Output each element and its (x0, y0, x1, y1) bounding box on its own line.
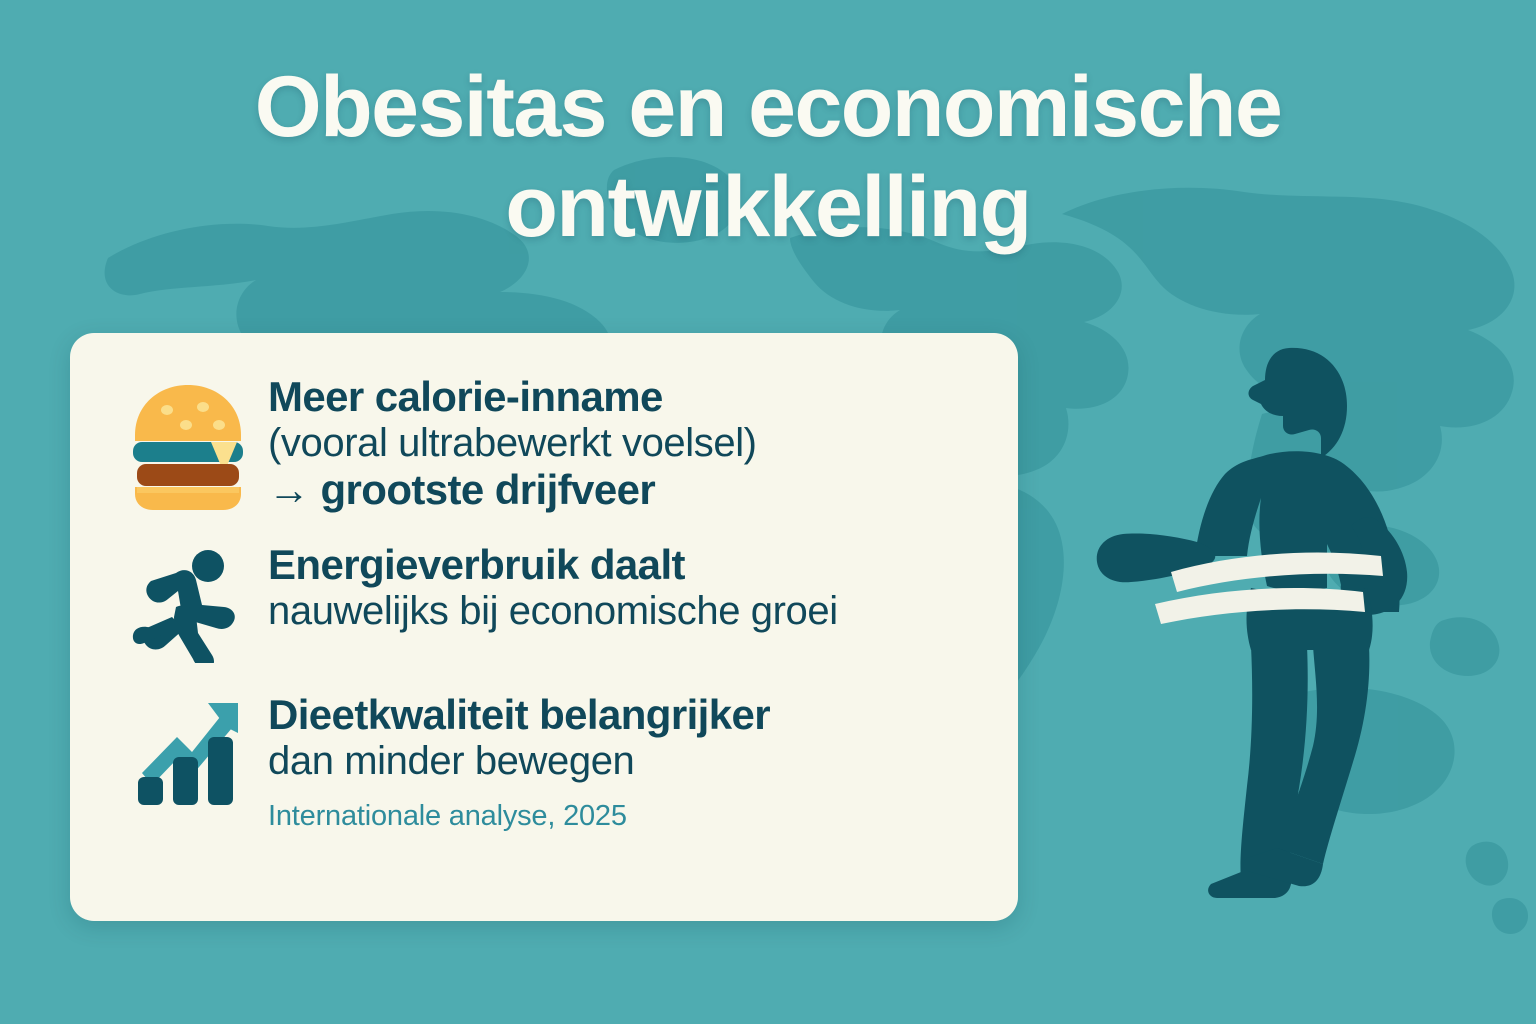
card-item-2-text: Dieetkwaliteit belangrijker dan minder b… (262, 691, 988, 833)
running-person-icon-wrapper (114, 541, 262, 663)
card-item-calorie-intake: Meer calorie-inname (vooral ultrabewerkt… (114, 373, 988, 513)
page-title: Obesitas en economische ontwikkelling (0, 58, 1536, 258)
item-2-headline: Dieetkwaliteit belangrijker (268, 691, 988, 738)
card-item-energy-expenditure: Energieverbruik daalt nauwelijks bij eco… (114, 541, 988, 663)
title-line-2: ontwikkelling (0, 158, 1536, 258)
running-person-icon (132, 547, 244, 663)
card-item-0-text: Meer calorie-inname (vooral ultrabewerkt… (262, 373, 988, 513)
item-1-subline: nauwelijks bij economische groei (268, 588, 988, 634)
silhouette-body (1097, 348, 1407, 898)
item-1-headline: Energieverbruik daalt (268, 541, 988, 588)
infographic-poster: Obesitas en economische ontwikkelling (0, 0, 1536, 1024)
item-0-conclusion: → grootste drijfveer (268, 466, 988, 513)
card-item-1-text: Energieverbruik daalt nauwelijks bij eco… (262, 541, 988, 634)
item-2-source-note: Internationale analyse, 2025 (268, 799, 988, 834)
item-0-headline: Meer calorie-inname (268, 373, 988, 420)
bar-chart-growth-icon (130, 697, 246, 809)
card-item-diet-quality: Dieetkwaliteit belangrijker dan minder b… (114, 691, 988, 833)
walking-person-silhouette (1075, 320, 1495, 920)
item-2-subline: dan minder bewegen (268, 738, 988, 784)
bar-chart-growth-icon-wrapper (114, 691, 262, 809)
title-line-1: Obesitas en economische (0, 58, 1536, 158)
hamburger-icon (129, 379, 247, 511)
item-0-subline: (vooral ultrabewerkt voelsel) (268, 420, 988, 466)
info-card: Meer calorie-inname (vooral ultrabewerkt… (70, 333, 1018, 921)
hamburger-icon-wrapper (114, 373, 262, 511)
